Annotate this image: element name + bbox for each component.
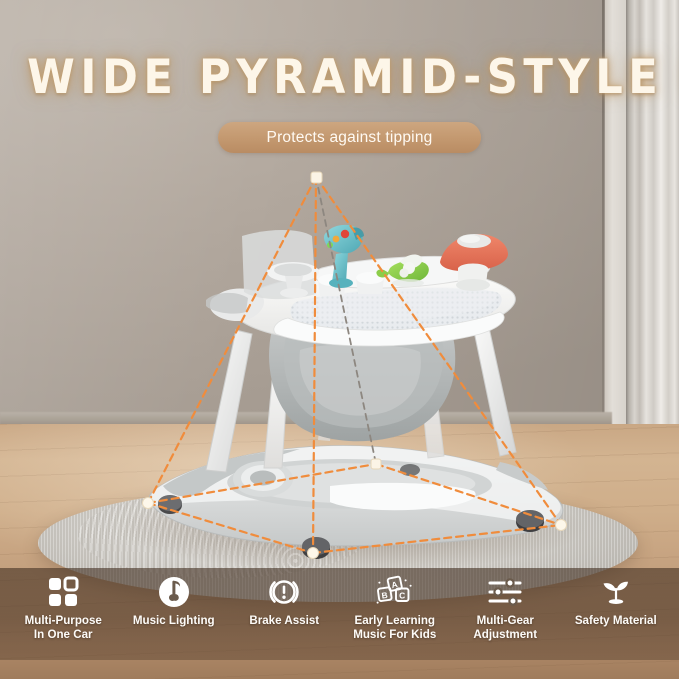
subtitle-badge: Protects against tipping [218,122,481,153]
svg-text:B: B [381,590,388,601]
svg-text:C: C [399,591,405,601]
feature-early-learning[interactable]: A B C Early Learning Music For Kids [340,572,451,641]
feature-label: Multi-Purpose In One Car [25,614,102,641]
feature-label: Early Learning Music For Kids [353,614,436,641]
feature-multi-purpose[interactable]: Multi-Purpose In One Car [8,572,119,641]
feature-multi-gear[interactable]: Multi-Gear Adjustment [450,572,561,641]
sliders-icon [486,572,524,612]
sprout-leaf-icon [597,572,635,612]
feature-music-lighting[interactable]: Music Lighting [119,572,230,628]
feature-label: Safety Material [575,614,657,628]
feature-label: Music Lighting [133,614,215,628]
feature-label: Brake Assist [249,614,319,628]
brake-warning-icon [267,572,301,612]
feature-label: Multi-Gear Adjustment [473,614,537,641]
music-note-icon [157,572,191,612]
grid-four-squares-icon [46,572,80,612]
feature-list: Multi-Purpose In One Car Music Lighting [0,572,679,660]
feature-safety-material[interactable]: Safety Material [561,572,672,628]
abc-blocks-icon: A B C [375,572,415,612]
svg-text:A: A [390,579,398,590]
product-feature-image: WIDE PYRAMID-STYLE BASE Protects against… [0,0,679,679]
feature-brake-assist[interactable]: Brake Assist [229,572,340,628]
page-title: WIDE PYRAMID-STYLE BASE [27,50,652,106]
